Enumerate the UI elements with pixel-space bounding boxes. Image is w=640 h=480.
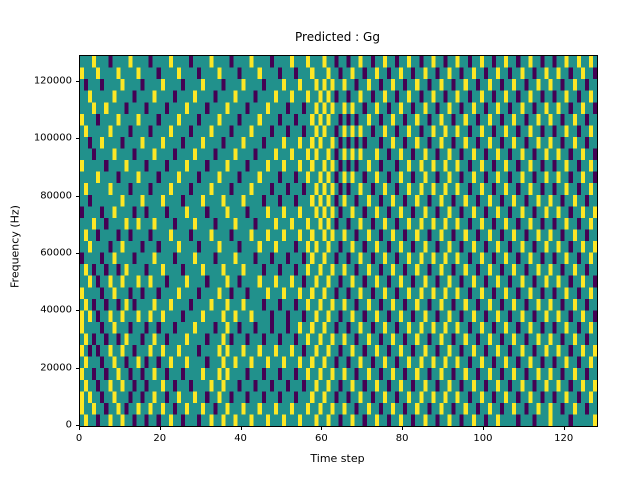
matplotlib-figure: Predicted : Gg 0200004000060000800001000… (0, 0, 640, 480)
x-tick-label: 0 (76, 433, 82, 444)
y-tick-mark (76, 138, 80, 139)
x-tick-mark (241, 426, 242, 430)
heatmap-canvas (80, 56, 597, 426)
x-tick-label: 40 (234, 433, 247, 444)
x-tick-label: 80 (396, 433, 409, 444)
x-tick-label: 120 (554, 433, 573, 444)
y-tick-mark (76, 196, 80, 197)
page-title: Predicted : Gg (79, 29, 596, 45)
y-tick-mark (76, 81, 80, 82)
y-tick-label: 0 (0, 420, 72, 431)
x-tick-mark (321, 426, 322, 430)
y-tick-mark (76, 310, 80, 311)
y-tick-mark (76, 368, 80, 369)
x-tick-label: 100 (473, 433, 492, 444)
y-tick-label: 120000 (0, 75, 72, 86)
x-tick-label: 20 (153, 433, 166, 444)
y-tick-mark (76, 253, 80, 254)
x-tick-mark (160, 426, 161, 430)
x-tick-mark (402, 426, 403, 430)
x-axis-label: Time step (79, 452, 596, 465)
y-tick-label: 100000 (0, 133, 72, 144)
y-axis-label: Frequency (Hz) (9, 177, 22, 317)
x-tick-mark (483, 426, 484, 430)
x-tick-label: 60 (315, 433, 328, 444)
y-tick-label: 20000 (0, 362, 72, 373)
x-tick-mark (79, 426, 80, 430)
heatmap-plot-area (79, 55, 598, 427)
x-tick-mark (564, 426, 565, 430)
